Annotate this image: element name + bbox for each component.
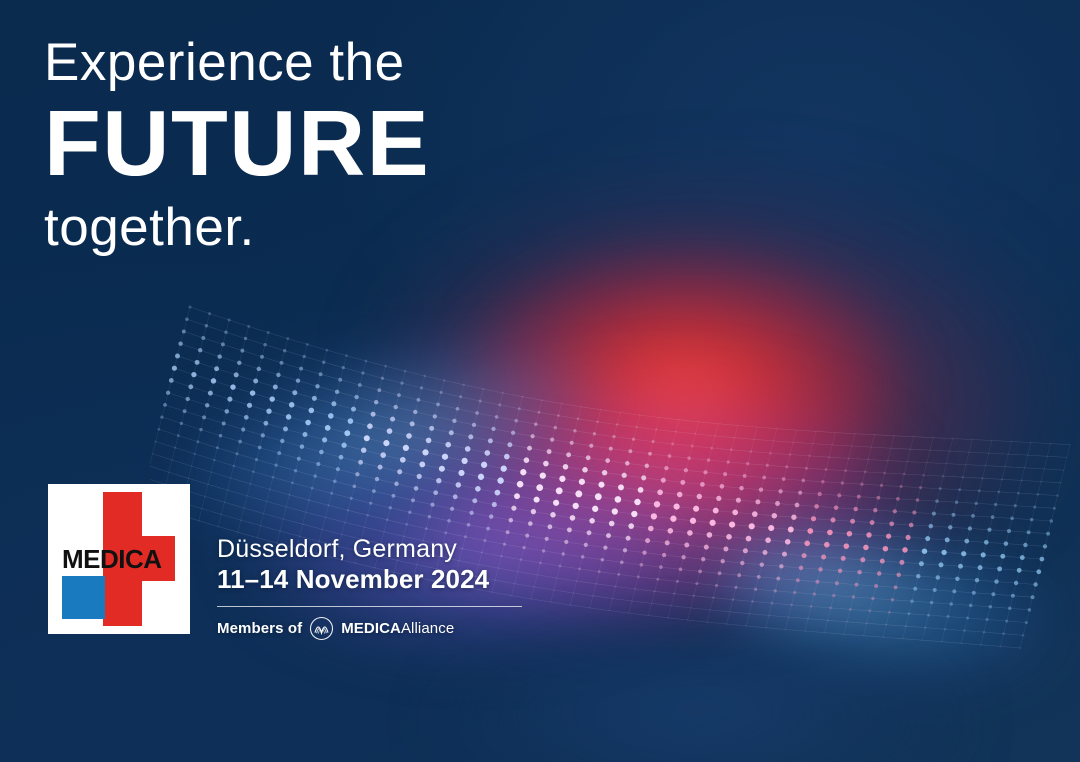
headline-line-1: Experience the [44, 36, 430, 90]
logo-wordmark: MEDICA [62, 544, 162, 574]
medica-trade-fair-poster: Experience the FUTURE together. MEDICA D… [0, 0, 1080, 762]
medica-alliance-wordmark: MEDICAAlliance [341, 620, 454, 637]
event-dates: 11–14 November 2024 [217, 565, 547, 595]
headline-line-3: together. [44, 201, 430, 255]
headline-block: Experience the FUTURE together. [44, 36, 430, 255]
medica-logo-svg: MEDICA [48, 484, 190, 634]
medica-logo: MEDICA [48, 484, 190, 634]
members-of-label: Members of [217, 620, 302, 637]
event-city: Düsseldorf, Germany [217, 535, 547, 563]
alliance-regular: Alliance [401, 620, 454, 637]
headline-line-2: FUTURE [44, 96, 430, 191]
deep-bottom-glow [440, 640, 960, 762]
blue-glow-band [166, 305, 623, 569]
red-glow-core [470, 255, 900, 505]
event-info-block: Düsseldorf, Germany 11–14 November 2024 … [217, 535, 547, 641]
alliance-bold: MEDICA [341, 620, 401, 637]
info-divider [217, 606, 522, 607]
members-of-row: Members of MEDICAAlliance [217, 616, 547, 641]
red-glow-wide [400, 200, 1040, 580]
medica-alliance-circle-icon [309, 616, 334, 641]
cyan-glow-tail [709, 502, 1060, 707]
logo-blue-square [62, 576, 105, 619]
